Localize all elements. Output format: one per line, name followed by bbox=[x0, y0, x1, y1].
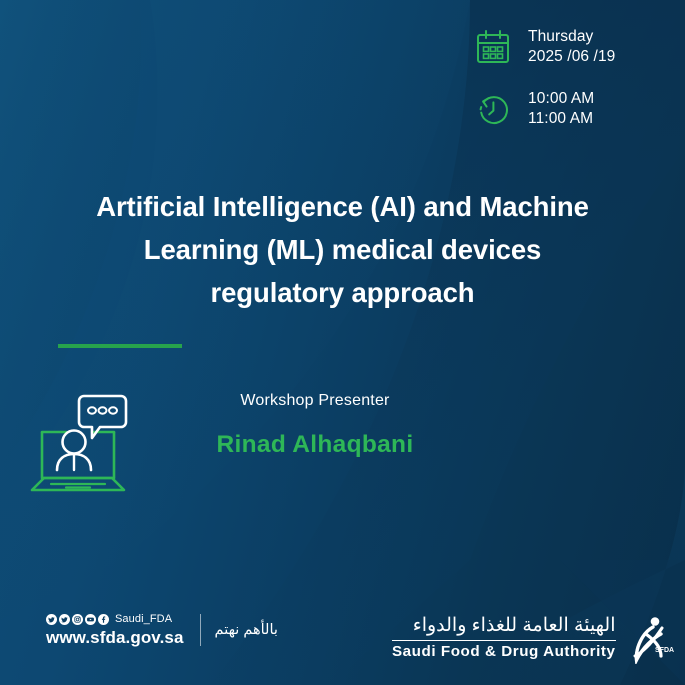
social-icon-row: Saudi_FDA bbox=[46, 612, 184, 626]
clock-icon bbox=[470, 86, 516, 132]
time-text: 10:00 AM 11:00 AM bbox=[528, 89, 594, 130]
presenter-block: Workshop Presenter Rinad Alhaqbani bbox=[150, 392, 480, 459]
green-divider bbox=[58, 344, 182, 348]
date-day: Thursday bbox=[528, 27, 615, 47]
title-line-3: regulatory approach bbox=[0, 272, 685, 315]
website-url[interactable]: www.sfda.gov.sa bbox=[46, 628, 184, 648]
sfda-mark-label: SFDA bbox=[655, 647, 674, 654]
youtube-icon[interactable] bbox=[85, 614, 96, 625]
facebook-icon[interactable] bbox=[98, 614, 109, 625]
time-row: 10:00 AM 11:00 AM bbox=[470, 86, 675, 132]
title-line-1: Artificial Intelligence (AI) and Machine bbox=[0, 186, 685, 229]
twitter-icon[interactable] bbox=[46, 614, 57, 625]
laptop-person-speech-icon bbox=[22, 386, 134, 492]
footer-contact: Saudi_FDA www.sfda.gov.sa بالأهم نهتم bbox=[46, 612, 278, 648]
date-row: Thursday 2025 /06 /19 bbox=[470, 24, 675, 70]
social-and-website: Saudi_FDA www.sfda.gov.sa bbox=[46, 612, 184, 648]
time-start: 10:00 AM bbox=[528, 89, 594, 109]
time-end: 11:00 AM bbox=[528, 109, 594, 129]
page-title: Artificial Intelligence (AI) and Machine… bbox=[0, 186, 685, 315]
title-line-2: Learning (ML) medical devices bbox=[0, 229, 685, 272]
date-text: Thursday 2025 /06 /19 bbox=[528, 27, 615, 68]
calendar-icon bbox=[470, 24, 516, 70]
instagram-icon[interactable] bbox=[72, 614, 83, 625]
footer-separator bbox=[200, 614, 201, 646]
presenter-role-label: Workshop Presenter bbox=[150, 392, 480, 410]
social-handle: Saudi_FDA bbox=[115, 613, 172, 625]
sfda-logo-english: Saudi Food & Drug Authority bbox=[392, 643, 616, 661]
date-value: 2025 /06 /19 bbox=[528, 47, 615, 67]
twitter-icon[interactable] bbox=[59, 614, 70, 625]
tagline-arabic: بالأهم نهتم bbox=[215, 622, 278, 638]
sfda-logo-wordmark: الهيئة العامة للغذاء والدواء Saudi Food … bbox=[392, 615, 616, 661]
schedule-block: Thursday 2025 /06 /19 10:00 AM 11:00 AM bbox=[470, 24, 675, 148]
sfda-logo-arabic: الهيئة العامة للغذاء والدواء bbox=[392, 615, 616, 641]
event-poster: Thursday 2025 /06 /19 10:00 AM 11:00 AM … bbox=[0, 0, 685, 685]
sfda-logo: الهيئة العامة للغذاء والدواء Saudi Food … bbox=[392, 612, 674, 664]
presenter-name: Rinad Alhaqbani bbox=[150, 431, 480, 459]
sfda-figure-mark-icon: SFDA bbox=[622, 612, 674, 664]
